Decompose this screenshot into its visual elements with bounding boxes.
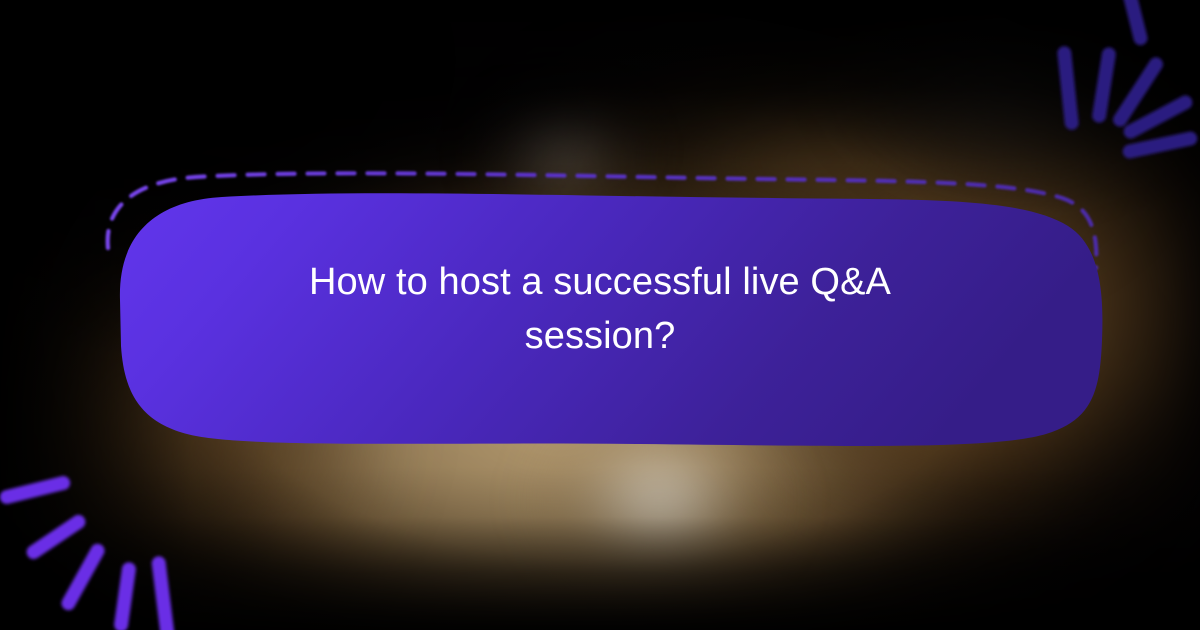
burst-ray (1110, 55, 1165, 130)
burst-ray (1091, 46, 1117, 123)
burst-ray (1057, 45, 1080, 130)
background-highlight (0, 0, 1200, 630)
background-warm-glow-left (0, 0, 1200, 630)
background-shade-top (0, 0, 1200, 630)
dashed-outline (108, 173, 1097, 268)
share-card: How to host a successful live Q&A sessio… (0, 0, 1200, 630)
background-warm-glow-right (0, 0, 1200, 630)
burst-ray (1121, 93, 1195, 141)
card-title-line-1: How to host a successful live Q&A (150, 255, 1050, 309)
sparkle-burst-top-right (1057, 0, 1199, 160)
background-shade-left (0, 0, 1200, 630)
background-warm-glow (0, 0, 1200, 630)
sparkle-burst-bottom-left (0, 474, 175, 630)
background-warm-glow-top (0, 0, 1200, 630)
burst-ray (24, 512, 88, 562)
card-title-line-2: session? (150, 309, 1050, 363)
burst-ray (1121, 130, 1198, 159)
burst-ray (113, 561, 137, 630)
card-title: How to host a successful live Q&A sessio… (150, 255, 1050, 363)
burst-ray (1119, 0, 1149, 47)
background-shade-bottom (0, 0, 1200, 630)
title-blob (120, 193, 1103, 446)
background-base (0, 0, 1200, 630)
burst-ray (0, 474, 72, 505)
card-graphics (0, 0, 1200, 630)
burst-ray (59, 541, 107, 613)
background-cool-patch (0, 0, 1200, 630)
background-shade-topleft (0, 0, 1200, 630)
background-vignette (0, 0, 1200, 630)
burst-ray (151, 555, 175, 630)
background-highlight-secondary (0, 0, 1200, 630)
